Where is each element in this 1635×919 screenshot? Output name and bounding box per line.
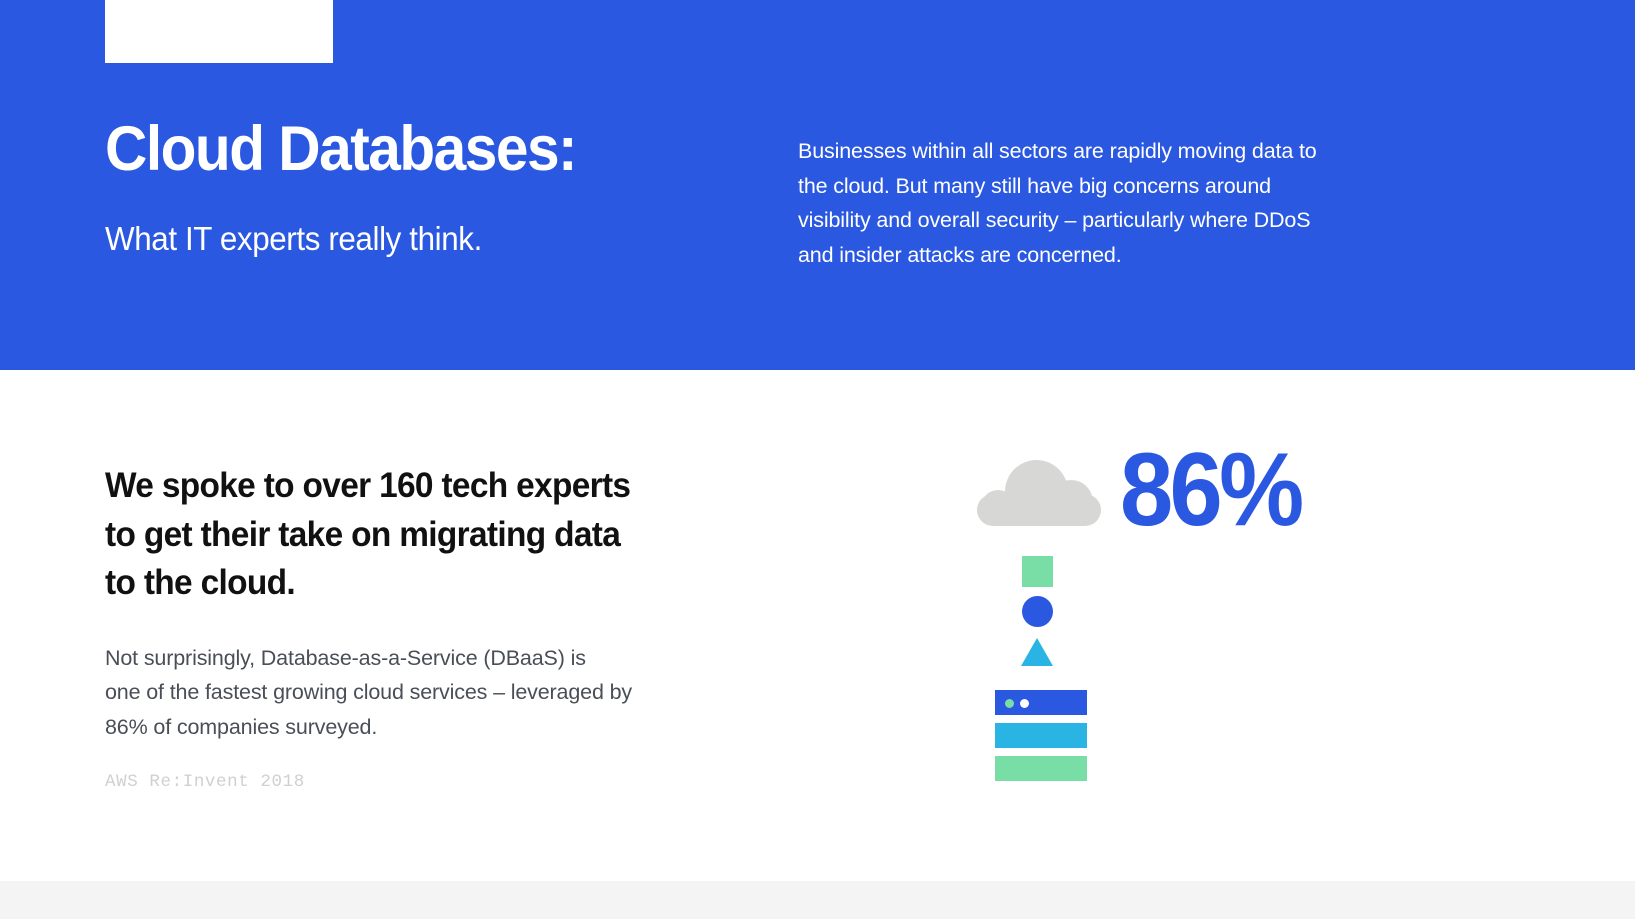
stat-body-line: Not surprisingly, Database-as-a-Service … xyxy=(105,641,745,676)
hero-banner: Cloud Databases: What IT experts really … xyxy=(0,0,1635,370)
page-title: Cloud Databases: xyxy=(105,118,719,181)
stat-heading: We spoke to over 160 tech experts to get… xyxy=(105,462,716,608)
server-bar-blue xyxy=(995,690,1087,715)
intro-line: and insider attacks are concerned. xyxy=(798,238,1423,273)
stat-heading-line: to the cloud. xyxy=(105,559,716,608)
server-bar-cyan xyxy=(995,723,1087,748)
cloud-statistic-illustration: 86% xyxy=(960,440,1400,800)
stat-body-paragraph: Not surprisingly, Database-as-a-Service … xyxy=(105,608,745,745)
stat-heading-line: to get their take on migrating data xyxy=(105,511,716,560)
cloud-icon xyxy=(977,460,1101,526)
cloud-base xyxy=(977,494,1101,526)
stat-body-line: one of the fastest growing cloud service… xyxy=(105,675,745,710)
hero-text-block: Cloud Databases: What IT experts really … xyxy=(105,118,765,259)
hero-intro-paragraph: Businesses within all sectors are rapidl… xyxy=(798,134,1423,273)
cyan-triangle-icon xyxy=(1021,638,1053,666)
status-dot-white xyxy=(1020,699,1029,708)
page-subtitle: What IT experts really think. xyxy=(105,181,732,259)
intro-line: visibility and overall security – partic… xyxy=(798,203,1423,238)
percent-stat: 86% xyxy=(1120,438,1300,542)
footer-strip xyxy=(0,881,1635,919)
server-bar-green xyxy=(995,756,1087,781)
logo-placeholder xyxy=(105,0,333,63)
intro-line: the cloud. But many still have big conce… xyxy=(798,169,1423,204)
green-square-icon xyxy=(1022,556,1053,587)
blue-circle-icon xyxy=(1022,596,1053,627)
intro-line: Businesses within all sectors are rapidl… xyxy=(798,134,1423,169)
source-citation: AWS Re:Invent 2018 xyxy=(105,772,305,792)
stat-heading-line: We spoke to over 160 tech experts xyxy=(105,462,716,511)
stat-body-line: 86% of companies surveyed. xyxy=(105,710,745,745)
status-dot-green xyxy=(1005,699,1014,708)
stat-text-block: We spoke to over 160 tech experts to get… xyxy=(105,462,745,744)
